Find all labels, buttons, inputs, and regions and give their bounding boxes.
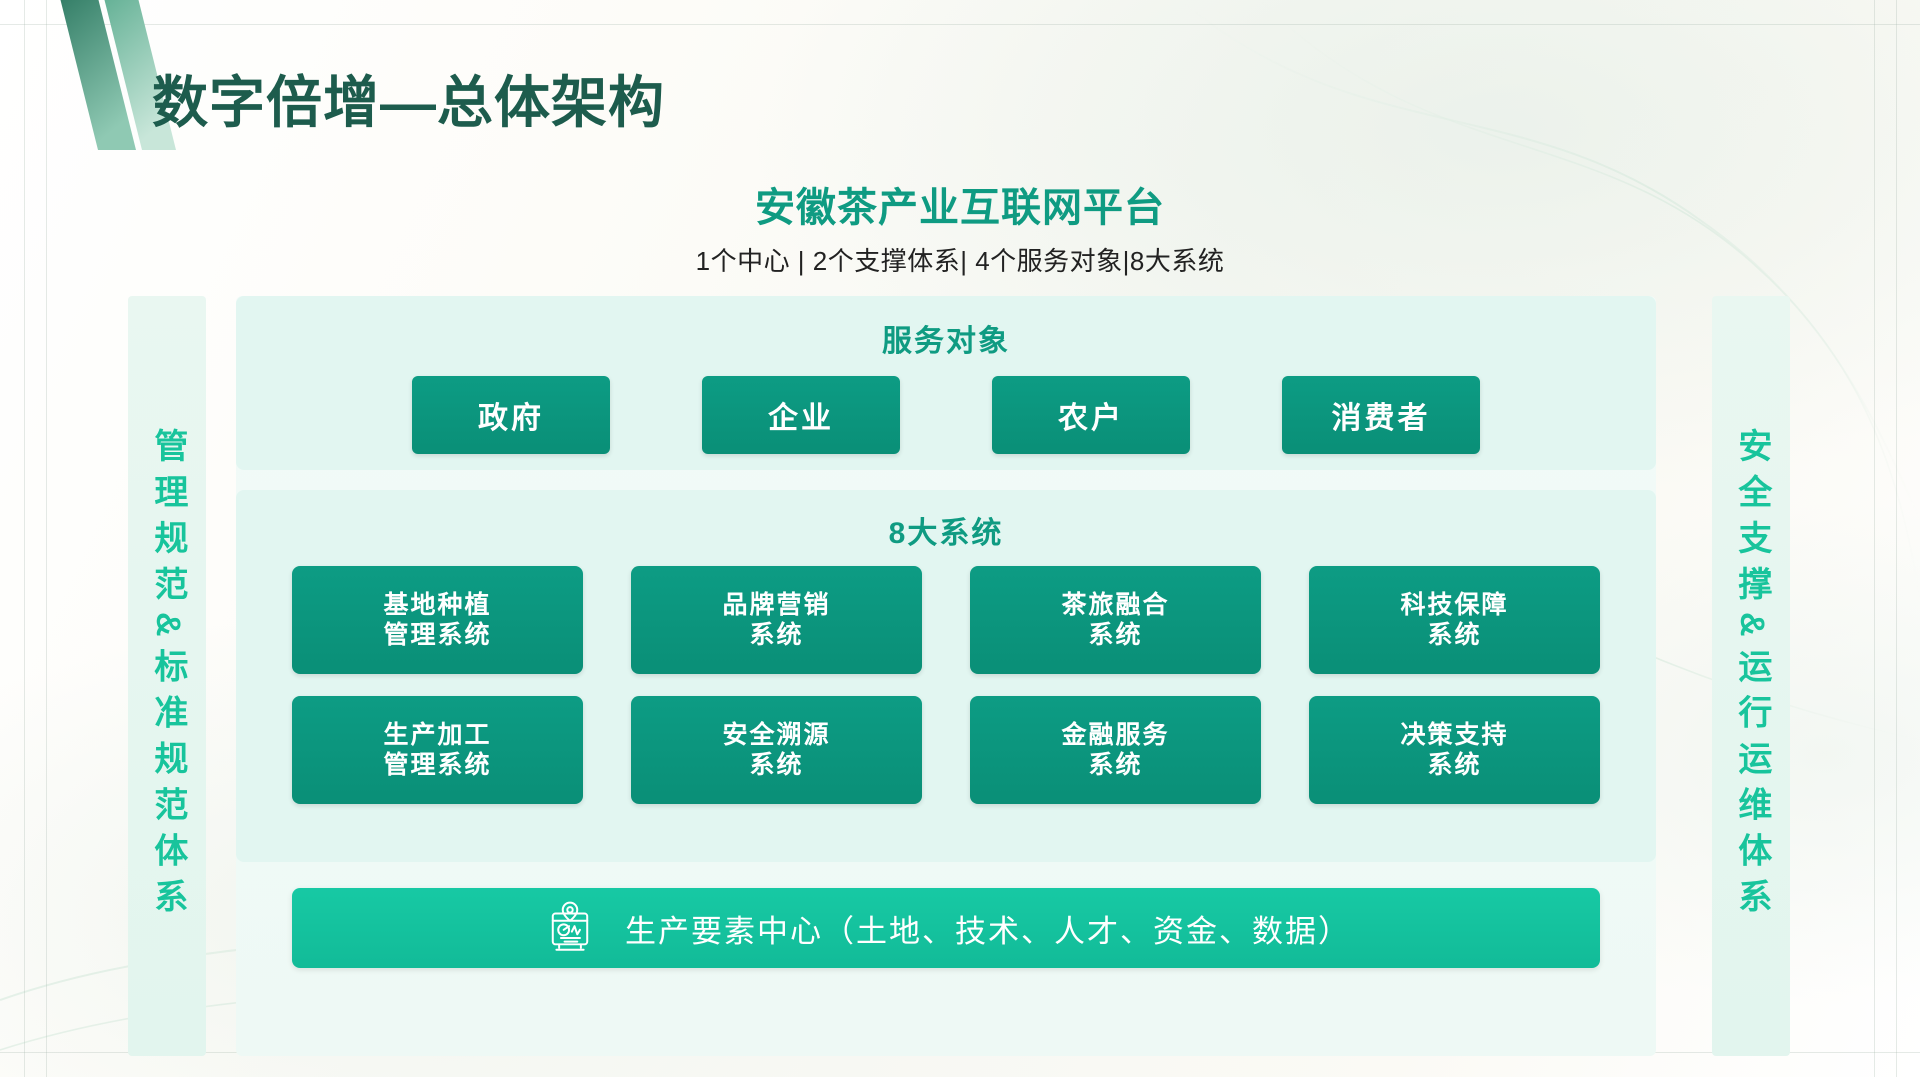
- systems-panel: 8大系统 基地种植 管理系统 品牌营销 系统 茶旅融合 系统 科技保障 系统 生…: [236, 490, 1656, 862]
- system-card[interactable]: 基地种植 管理系统: [292, 566, 583, 674]
- systems-grid: 基地种植 管理系统 品牌营销 系统 茶旅融合 系统 科技保障 系统 生产加工 管…: [236, 552, 1656, 804]
- system-card-line1: 茶旅融合: [1061, 590, 1169, 621]
- service-object-card[interactable]: 企业: [702, 376, 900, 454]
- system-card-line1: 决策支持: [1400, 720, 1508, 751]
- service-object-card[interactable]: 消费者: [1282, 376, 1480, 454]
- system-card-line2: 系统: [1427, 620, 1481, 651]
- system-card[interactable]: 科技保障 系统: [1309, 566, 1600, 674]
- monitor-analytics-icon: [541, 899, 599, 957]
- system-card-line2: 系统: [1088, 620, 1142, 651]
- systems-title: 8大系统: [236, 508, 1656, 552]
- platform-subtitle: 1个中心 | 2个支撑体系| 4个服务对象|8大系统: [0, 241, 1920, 278]
- service-object-label: 企业: [768, 393, 834, 437]
- system-card-line2: 系统: [1427, 750, 1481, 781]
- frame-line-right-inner: [1874, 0, 1875, 1077]
- system-card-line2: 系统: [749, 620, 803, 651]
- production-factor-center-label: 生产要素中心（土地、技术、人才、资金、数据）: [625, 906, 1351, 951]
- system-card[interactable]: 茶旅融合 系统: [970, 566, 1261, 674]
- system-card-line1: 金融服务: [1061, 720, 1169, 751]
- system-card-line1: 安全溯源: [722, 720, 830, 751]
- right-support-band: 安全支撑&运行运维体系: [1712, 296, 1790, 1056]
- system-card-line1: 品牌营销: [722, 590, 830, 621]
- page-title-dash: —: [380, 71, 437, 134]
- system-card-line2: 系统: [1088, 750, 1142, 781]
- system-card-line2: 管理系统: [383, 750, 491, 781]
- page-title-sub: 总体架构: [437, 71, 665, 134]
- left-support-band-label: 管理规范&标准规范体系: [149, 428, 185, 925]
- service-objects-panel: 服务对象 政府 企业 农户 消费者: [236, 296, 1656, 470]
- system-card[interactable]: 安全溯源 系统: [631, 696, 922, 804]
- service-object-label: 农户: [1058, 393, 1124, 437]
- production-factor-center-bar[interactable]: 生产要素中心（土地、技术、人才、资金、数据）: [292, 888, 1600, 968]
- left-support-band: 管理规范&标准规范体系: [128, 296, 206, 1056]
- frame-line-right-outer: [1896, 0, 1897, 1077]
- system-card-line1: 基地种植: [383, 590, 491, 621]
- frame-line-left-outer: [24, 0, 25, 1077]
- system-card-line2: 管理系统: [383, 620, 491, 651]
- service-object-card[interactable]: 农户: [992, 376, 1190, 454]
- service-object-card[interactable]: 政府: [412, 376, 610, 454]
- service-object-label: 消费者: [1332, 393, 1431, 437]
- system-card-line2: 系统: [749, 750, 803, 781]
- page-title: 数字倍增—总体架构: [152, 58, 665, 139]
- system-card[interactable]: 决策支持 系统: [1309, 696, 1600, 804]
- system-card[interactable]: 生产加工 管理系统: [292, 696, 583, 804]
- page-title-main: 数字倍增: [152, 71, 380, 134]
- system-card-line1: 科技保障: [1400, 590, 1508, 621]
- service-objects-title: 服务对象: [236, 316, 1656, 360]
- system-card[interactable]: 金融服务 系统: [970, 696, 1261, 804]
- platform-name: 安徽茶产业互联网平台: [0, 175, 1920, 233]
- right-support-band-label: 安全支撑&运行运维体系: [1733, 428, 1769, 925]
- service-object-label: 政府: [478, 393, 544, 437]
- architecture-stage: 服务对象 政府 企业 农户 消费者 8大系统 基地种植 管理系统 品牌营销: [236, 296, 1656, 1056]
- frame-line-top: [0, 24, 1920, 25]
- service-objects-row: 政府 企业 农户 消费者: [236, 376, 1656, 454]
- system-card[interactable]: 品牌营销 系统: [631, 566, 922, 674]
- system-card-line1: 生产加工: [383, 720, 491, 751]
